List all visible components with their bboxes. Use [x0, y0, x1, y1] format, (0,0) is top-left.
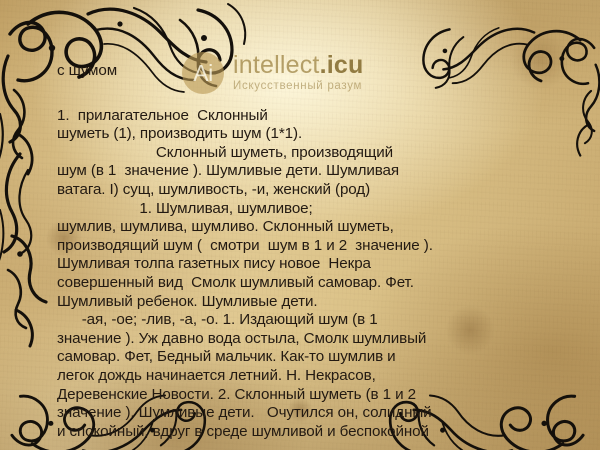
- entry-block-1: 1. прилагательное Склонный шуметь (1), п…: [57, 107, 551, 200]
- entry-block-2: 1. Шумливая, шумливое; шумлив, шумлива, …: [57, 200, 551, 312]
- flourish-left-edge-ornament: [0, 150, 50, 360]
- dictionary-entry-content: с шумом 1. прилагательное Склонный шумет…: [57, 62, 551, 441]
- slide-canvas: Ai intellect.icu Искусственный разум с ш…: [0, 0, 600, 450]
- headword: с шумом: [57, 62, 551, 81]
- entry-block-3: -ая, -ое; -лив, -а, -о. 1. Издающий шум …: [57, 311, 551, 441]
